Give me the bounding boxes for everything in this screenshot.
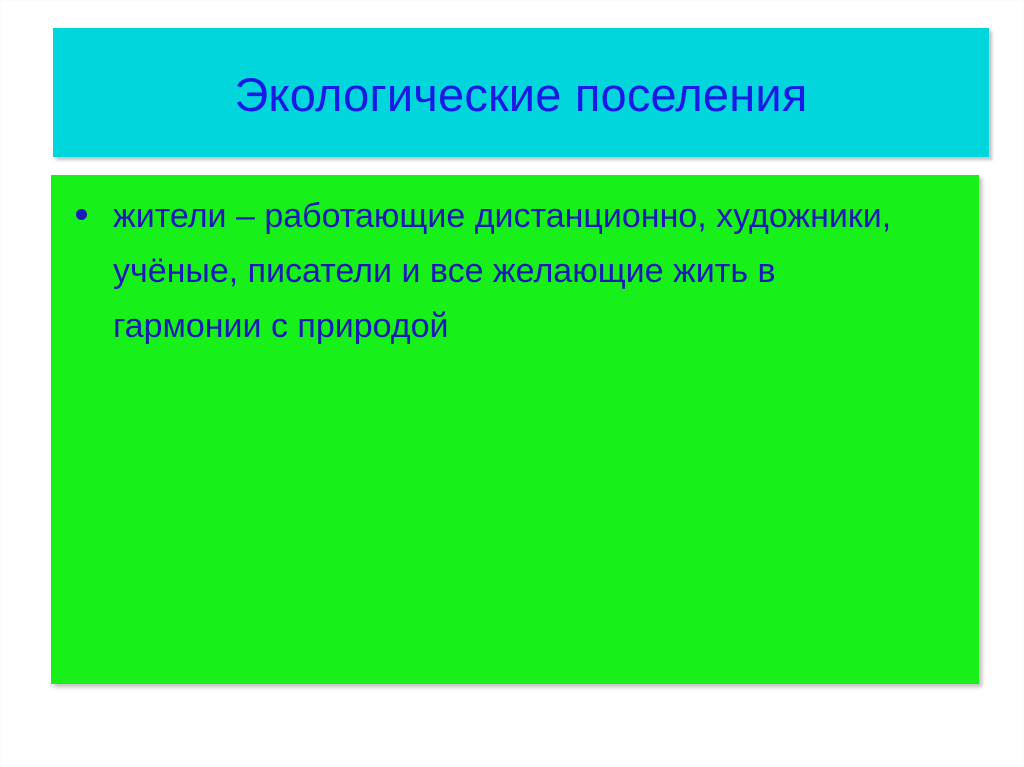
list-item: жители – работающие дистанционно, художн… bbox=[63, 189, 959, 354]
bullet-dot-icon bbox=[76, 209, 87, 220]
slide-content-box: жители – работающие дистанционно, художн… bbox=[51, 175, 979, 684]
list-item-label: жители – работающие дистанционно, художн… bbox=[113, 189, 913, 354]
bullet-list: жители – работающие дистанционно, художн… bbox=[63, 189, 959, 354]
slide-title: Экологические поселения bbox=[234, 70, 807, 119]
presentation-slide: Экологические поселения жители – работаю… bbox=[0, 0, 1024, 767]
slide-title-box: Экологические поселения bbox=[53, 28, 989, 157]
